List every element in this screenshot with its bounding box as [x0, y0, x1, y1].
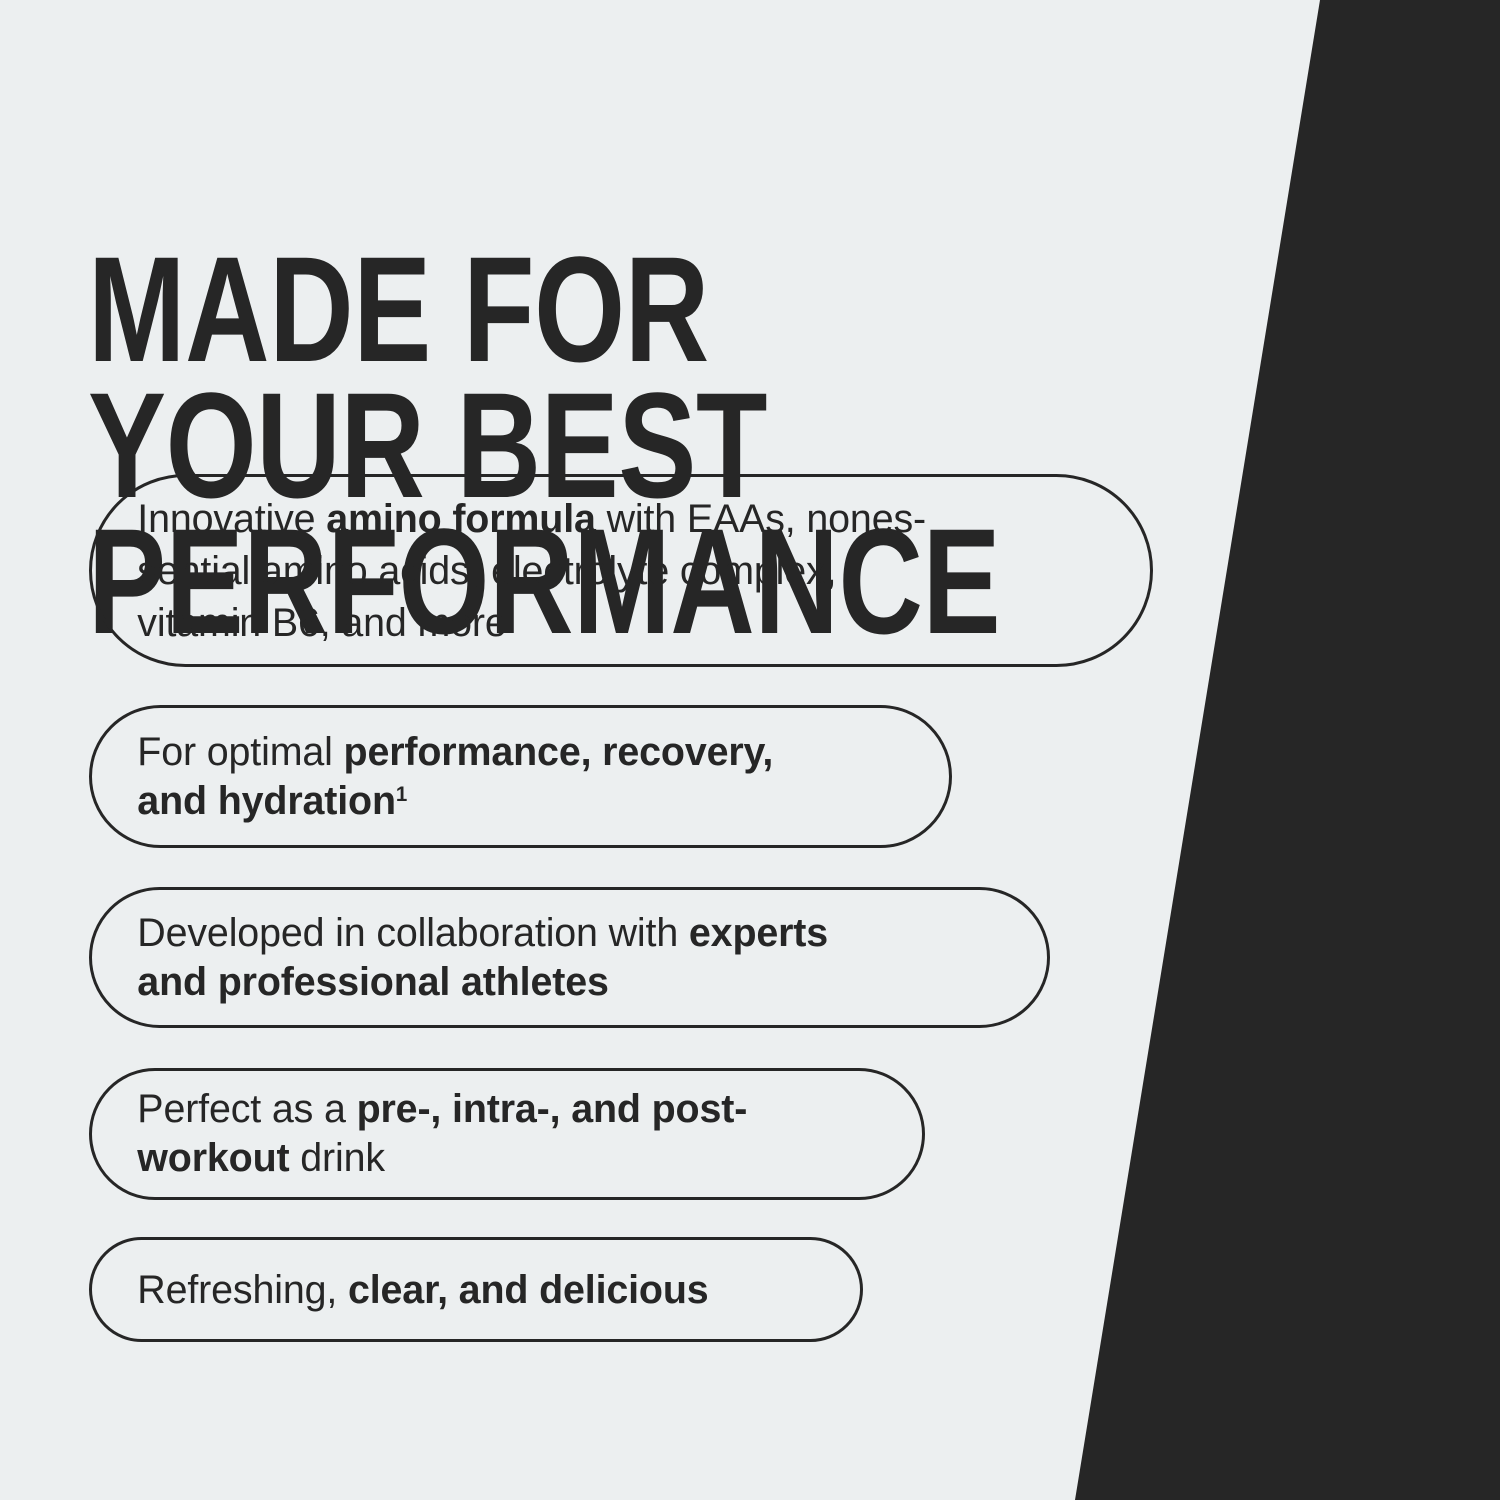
marketing-poster: MADE FOR YOUR BEST PERFORMANCE Innovativ…	[0, 0, 1500, 1500]
feature-pill-label: Refreshing, clear, and delicious	[92, 1267, 709, 1313]
feature-pill-refreshing-clear-delicious: Refreshing, clear, and delicious	[89, 1237, 863, 1342]
feature-pill-amino-formula: Innovative amino formula with EAAs, none…	[89, 474, 1153, 667]
feature-pill-label: Innovative amino formula with EAAs, none…	[92, 493, 926, 649]
feature-pill-label: Perfect as a pre-, intra-, and post- wor…	[92, 1085, 747, 1183]
feature-pill-label: For optimal performance, recovery, and h…	[92, 728, 773, 826]
feature-pill-performance-recovery-hydration: For optimal performance, recovery, and h…	[89, 705, 952, 848]
poster-content: MADE FOR YOUR BEST PERFORMANCE Innovativ…	[0, 0, 1500, 1500]
feature-pill-pre-intra-post-workout: Perfect as a pre-, intra-, and post- wor…	[89, 1068, 925, 1200]
feature-pill-label: Developed in collaboration with experts …	[92, 909, 828, 1007]
feature-pill-experts-and-athletes: Developed in collaboration with experts …	[89, 887, 1050, 1028]
